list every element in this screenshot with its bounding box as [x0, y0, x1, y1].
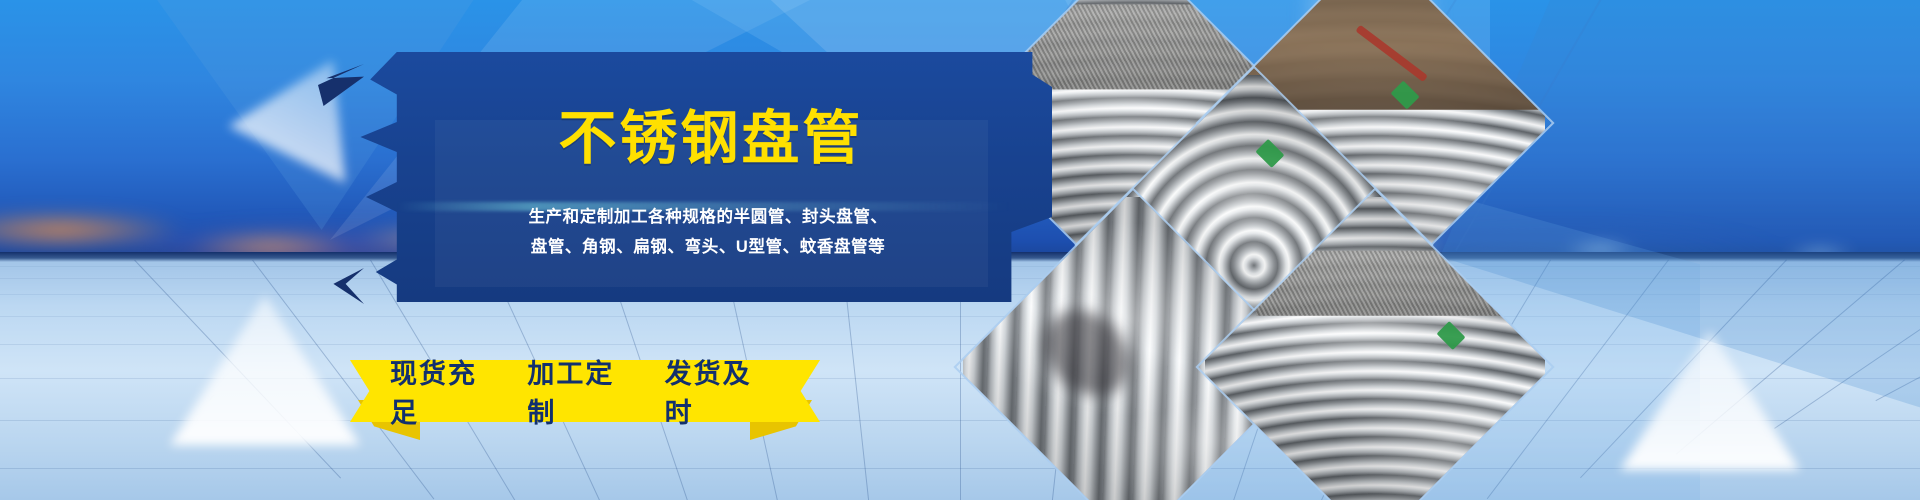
ribbon-end-right: [776, 360, 820, 422]
subtitle-block: 生产和定制加工各种规格的半圆管、封头盘管、 盘管、角钢、扁钢、弯头、U型管、蚊香…: [398, 202, 1018, 262]
glow-triangle: [1620, 330, 1800, 470]
selling-points-ribbon: 现货充足 加工定制 发货及时: [350, 360, 820, 446]
ribbon-text-row: 现货充足 加工定制 发货及时: [390, 360, 780, 422]
glow-triangle: [170, 295, 360, 445]
subtitle-line-1: 生产和定制加工各种规格的半圆管、封头盘管、: [398, 202, 1018, 232]
selling-point-3: 发货及时: [665, 352, 780, 430]
selling-point-1: 现货充足: [390, 352, 505, 430]
product-hero-banner: 不锈钢盘管 生产和定制加工各种规格的半圆管、封头盘管、 盘管、角钢、扁钢、弯头、…: [0, 0, 1920, 500]
subtitle-line-2: 盘管、角钢、扁钢、弯头、U型管、蚊香盘管等: [398, 232, 1018, 262]
selling-point-2: 加工定制: [527, 352, 642, 430]
page-title: 不锈钢盘管: [352, 110, 1052, 168]
product-photo-collage: [1020, 0, 1590, 500]
ribbon-end-left: [350, 360, 394, 422]
headline-panel: 不锈钢盘管 生产和定制加工各种规格的半圆管、封头盘管、 盘管、角钢、扁钢、弯头、…: [352, 52, 1052, 302]
